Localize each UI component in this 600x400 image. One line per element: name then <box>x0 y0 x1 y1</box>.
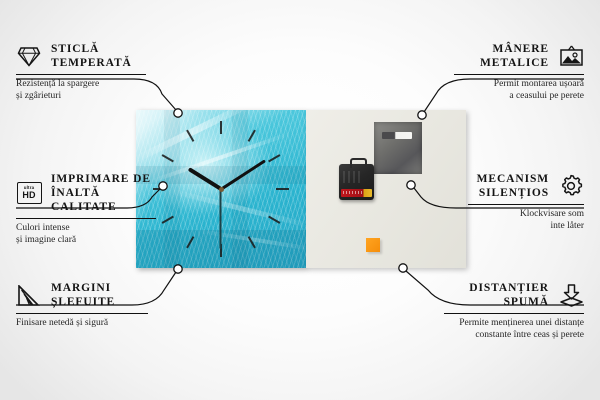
foam-spacer-pad <box>366 238 380 252</box>
clock-tick <box>248 130 256 142</box>
callout-mecanism-silentios: MECANISM SILENȚIOS Klockvisare som inte … <box>468 172 584 232</box>
callout-title: MARGINI ȘLEFUITE <box>51 281 115 309</box>
clock-tick <box>162 154 174 162</box>
metal-hanger-plate <box>374 122 422 174</box>
clock-tick <box>248 236 256 248</box>
clock-tick-ring <box>136 110 306 268</box>
ultra-hd-icon-main-text: HD <box>22 191 35 200</box>
hanger-slot <box>382 132 412 139</box>
callout-distantier-spuma: DISTANȚIER SPUMĂ Permite menținerea unei… <box>444 281 584 341</box>
movement-hanger-loop <box>350 158 367 168</box>
clock-minute-hand <box>220 159 265 190</box>
callout-title: MECANISM SILENȚIOS <box>477 172 549 200</box>
clock-tick <box>268 216 280 224</box>
callout-divider <box>16 218 156 219</box>
ultra-hd-icon: ultra HD <box>16 181 42 205</box>
clock-tick <box>162 216 174 224</box>
clock-tick <box>186 236 194 248</box>
callout-subtitle: Finisare netedă și sigură <box>16 318 148 330</box>
callout-subtitle: Permite menținerea unei distanțe constan… <box>444 318 584 341</box>
clock-tick <box>276 188 289 190</box>
callout-title: DISTANȚIER SPUMĂ <box>469 281 549 309</box>
clock-face-panel <box>136 110 306 268</box>
clock-second-hand <box>220 189 222 249</box>
callout-manere-metalice: MÂNERE METALICE Permit montarea ușoară a… <box>454 42 584 102</box>
foam-spacer-icon <box>558 283 584 307</box>
callout-divider <box>444 313 584 314</box>
clock-tick <box>220 121 222 134</box>
diamond-icon <box>16 44 42 68</box>
callout-margini-slefuite: MARGINI ȘLEFUITE Finisare netedă și sigu… <box>16 281 148 330</box>
clock-tick <box>186 130 194 142</box>
bevelled-edge-icon <box>16 283 42 307</box>
callout-subtitle: Rezistență la spargere și zgârieturi <box>16 79 146 102</box>
clock-tick <box>268 154 280 162</box>
gear-icon <box>558 174 584 198</box>
callout-subtitle: Culori intense și imagine clară <box>16 223 156 246</box>
callout-divider <box>16 313 148 314</box>
callout-title: STICLĂ TEMPERATĂ <box>51 42 132 70</box>
callout-imprimare-inalta-calitate: ultra HD IMPRIMARE DE ÎNALTĂ CALITATE Cu… <box>16 172 156 246</box>
battery <box>341 189 372 197</box>
callout-title: MÂNERE METALICE <box>480 42 549 70</box>
clock-movement <box>339 164 374 200</box>
callout-subtitle: Klockvisare som inte låter <box>468 209 584 232</box>
callout-title: IMPRIMARE DE ÎNALTĂ CALITATE <box>51 172 156 214</box>
movement-detail <box>343 171 363 183</box>
callout-divider <box>16 74 146 75</box>
callout-sticla-temperata: STICLĂ TEMPERATĂ Rezistență la spargere … <box>16 42 146 102</box>
battery-label <box>343 191 363 194</box>
callout-divider <box>454 74 584 75</box>
picture-hanger-icon <box>558 44 584 68</box>
callout-subtitle: Permit montarea ușoară a ceasului pe per… <box>454 79 584 102</box>
clock-back-panel <box>306 110 466 268</box>
clock-hour-hand <box>188 167 222 191</box>
product-image <box>136 110 466 268</box>
callout-divider <box>468 204 584 205</box>
clock-hand-cap <box>219 187 224 192</box>
